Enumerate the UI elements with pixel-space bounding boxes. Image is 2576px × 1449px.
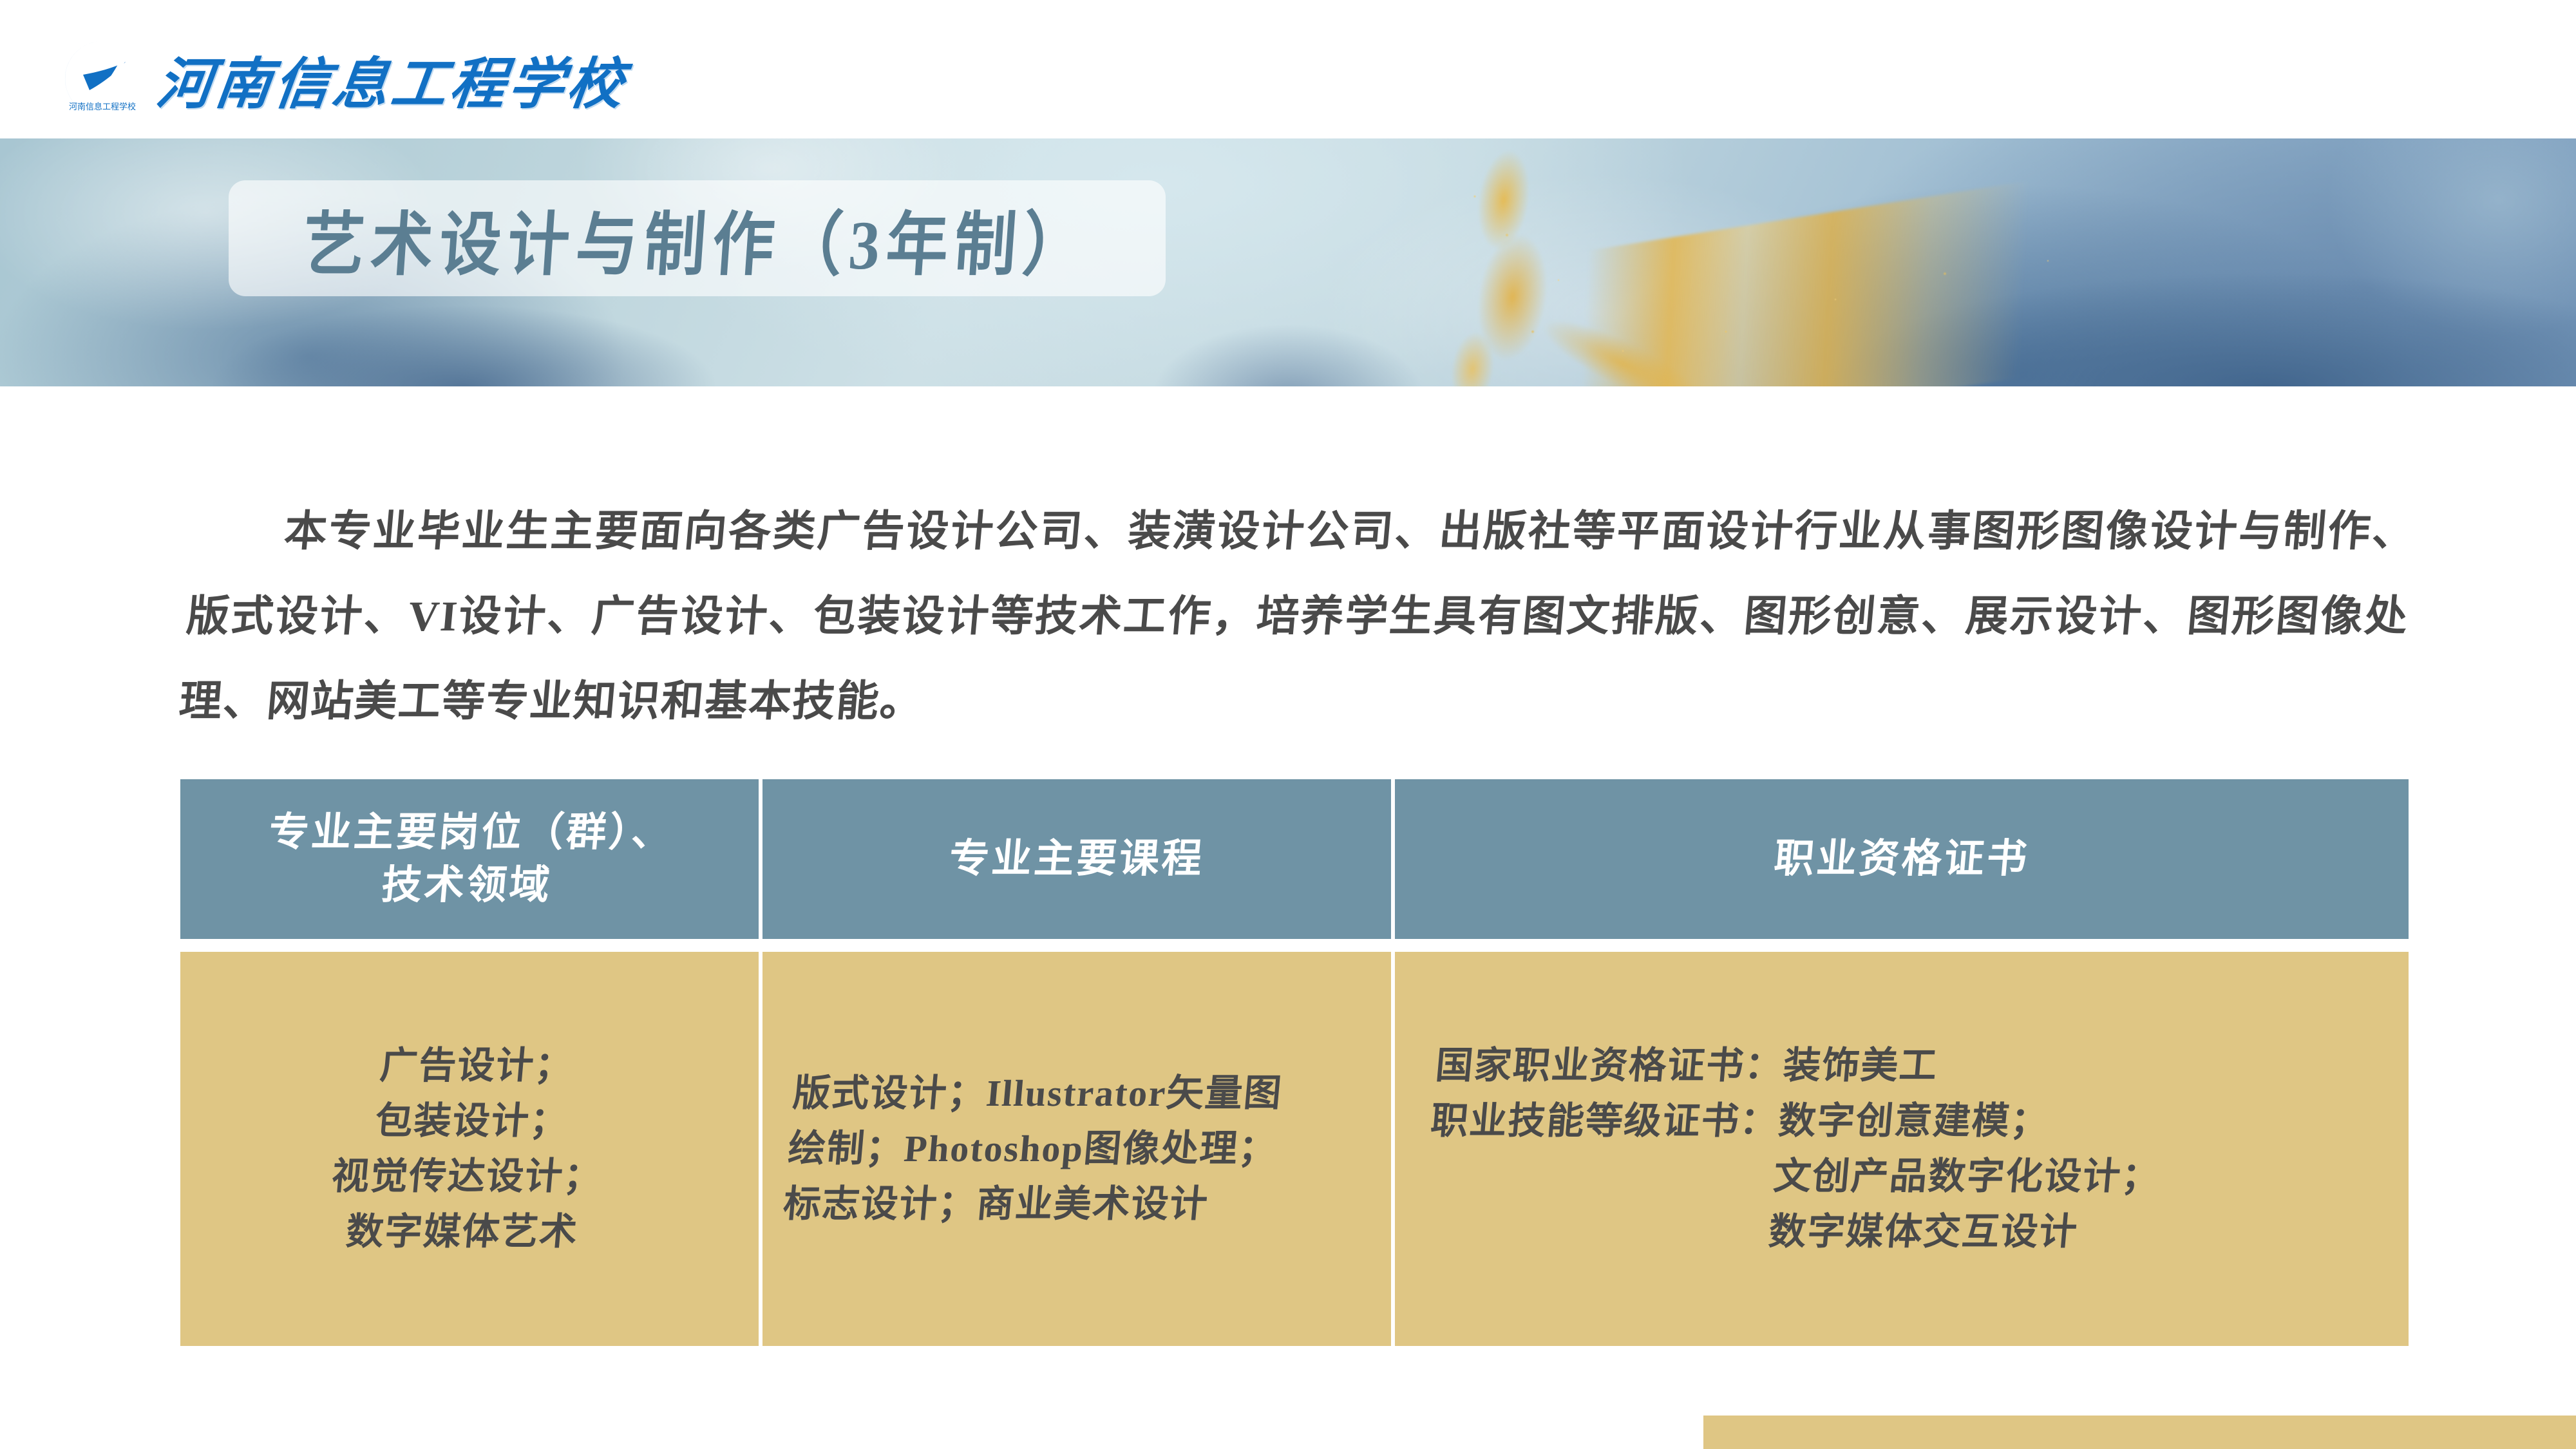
logo-bar: 河南信息工程学校 河南信息工程学校 [0,0,2576,138]
table-header-courses: 专业主要课程 [762,779,1391,939]
table-header-positions: 专业主要岗位（群）、 技术领域 [180,779,759,939]
table-cell-text: 国家职业资格证书：装饰美工 职业技能等级证书：数字创意建模； 文创产品数字化设计… [1419,1038,2172,1260]
table-cell-certificates: 国家职业资格证书：装饰美工 职业技能等级证书：数字创意建模； 文创产品数字化设计… [1395,952,2409,1346]
intro-paragraph-block: 本专业毕业生主要面向各类广告设计公司、装潢设计公司、出版社等平面设计行业从事图形… [187,489,2409,744]
school-emblem-icon: 河南信息工程学校 [61,37,144,120]
svg-text:河南信息工程学校: 河南信息工程学校 [69,102,136,111]
table-cell-positions: 广告设计； 包装设计； 视觉传达设计； 数字媒体艺术 [180,952,759,1346]
table-cell-courses: 版式设计；Illustrator矢量图 绘制；Photoshop图像处理； 标志… [762,952,1391,1346]
school-logo: 河南信息工程学校 河南信息工程学校 [61,37,627,120]
table-header-certificates: 职业资格证书 [1395,779,2409,939]
table-header-label: 专业主要课程 [947,833,1206,885]
table-header-label: 专业主要岗位（群）、 技术领域 [262,806,676,912]
table-cell-text: 版式设计；Illustrator矢量图 绘制；Photoshop图像处理； 标志… [781,1066,1285,1232]
table-cell-text: 广告设计； 包装设计； 视觉传达设计； 数字媒体艺术 [325,1038,614,1260]
page-title: 艺术设计与制作（3年制） [299,188,1095,289]
footer-accent-bar [1703,1416,2576,1449]
intro-paragraph: 本专业毕业生主要面向各类广告设计公司、装潢设计公司、出版社等平面设计行业从事图形… [176,489,2420,744]
table-body-row: 广告设计； 包装设计； 视觉传达设计； 数字媒体艺术 版式设计；Illustra… [180,952,2409,1346]
banner-title-plate: 艺术设计与制作（3年制） [229,180,1166,296]
slide-root: 河南信息工程学校 河南信息工程学校 艺术设计与制作（3年制） 本专业毕业生主要面… [0,0,2576,1449]
table-header-row: 专业主要岗位（群）、 技术领域 专业主要课程 职业资格证书 [180,779,2409,939]
program-info-table: 专业主要岗位（群）、 技术领域 专业主要课程 职业资格证书 广告设计； 包装设计… [180,779,2409,1346]
table-header-label: 职业资格证书 [1772,833,2031,885]
school-name-wordmark: 河南信息工程学校 [153,39,631,119]
